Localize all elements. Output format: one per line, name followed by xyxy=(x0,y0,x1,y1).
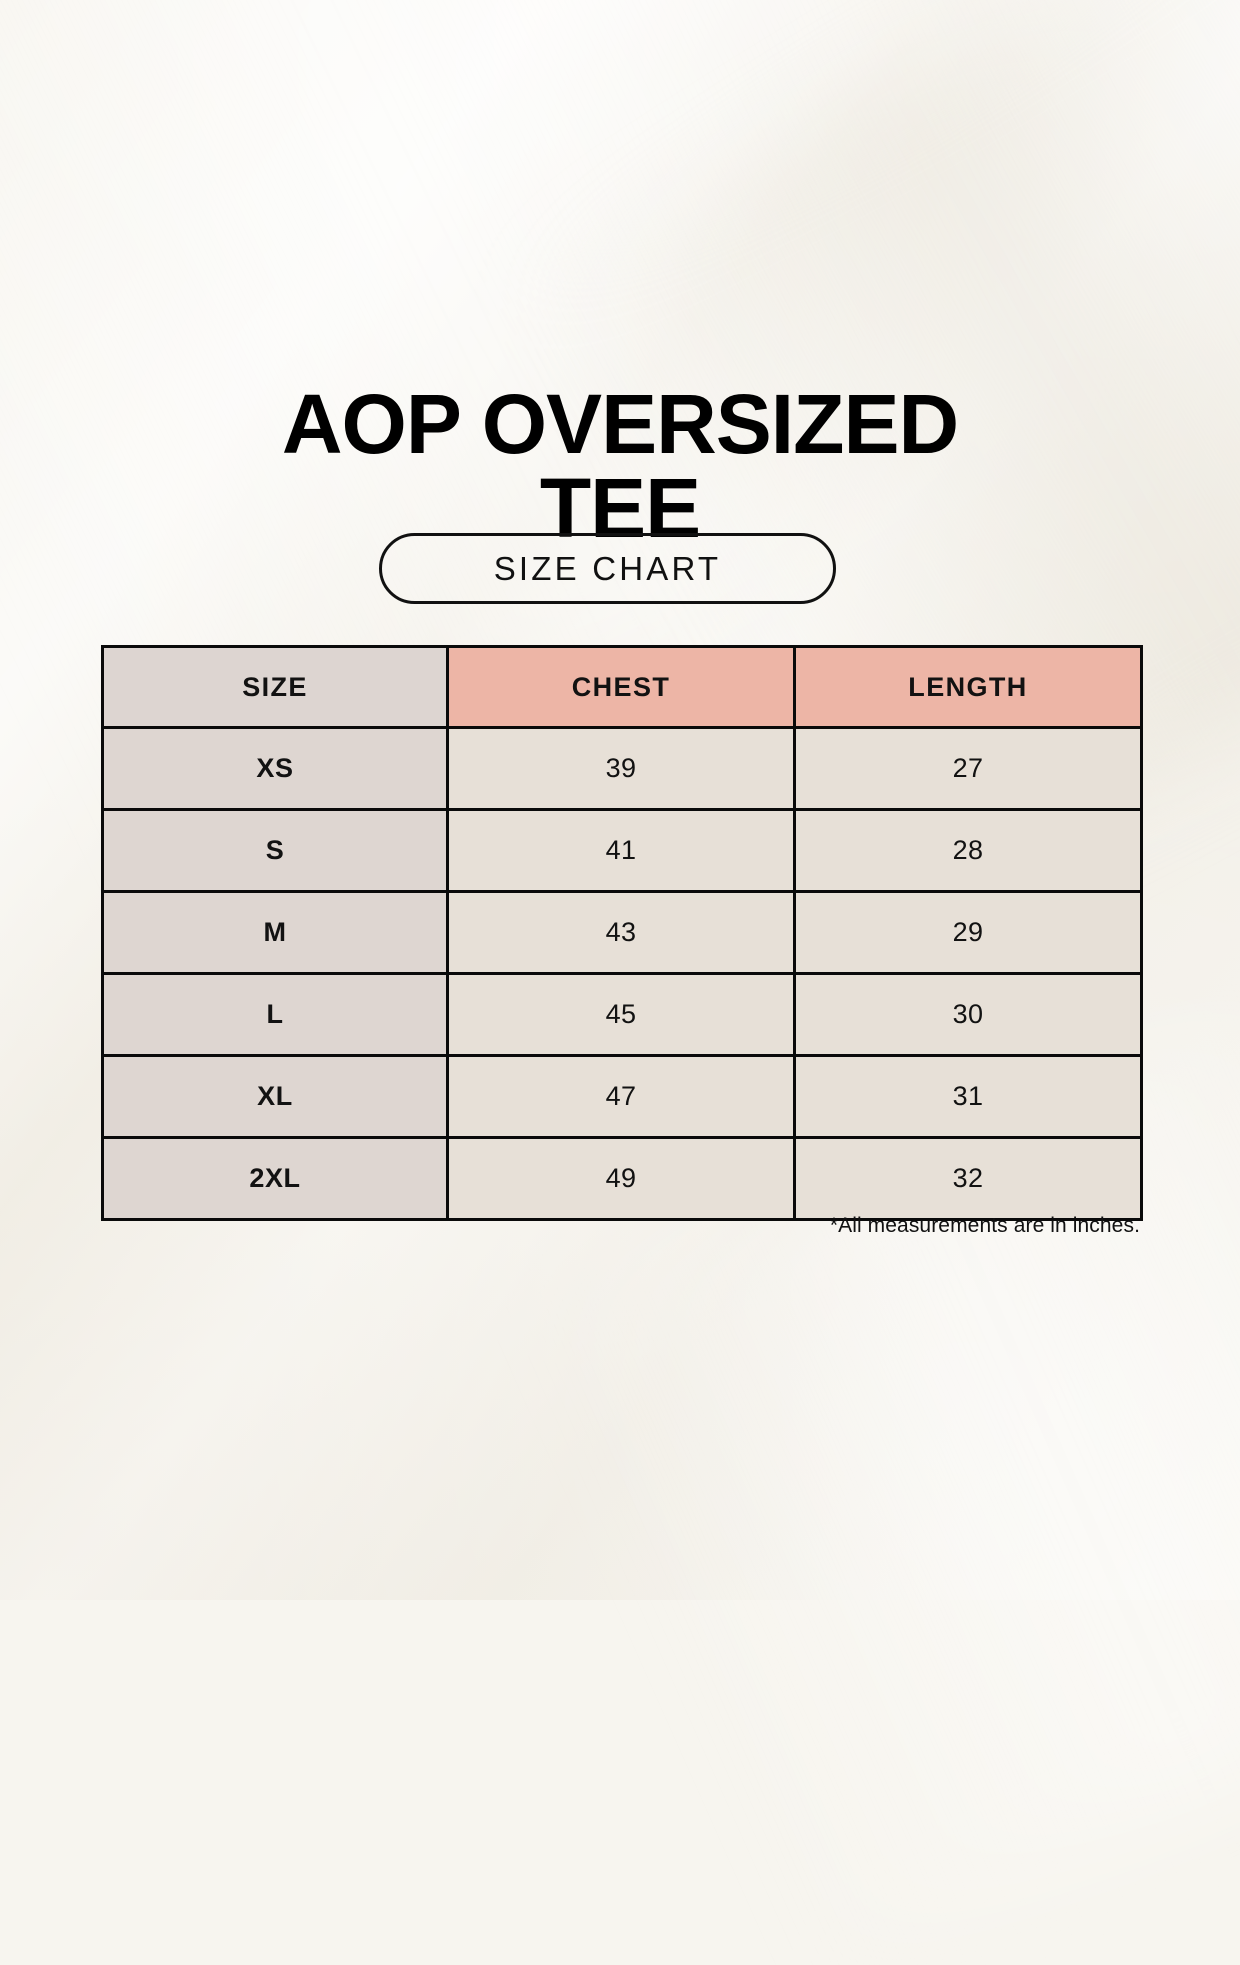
cell-length: 32 xyxy=(795,1138,1142,1220)
column-header-length: LENGTH xyxy=(795,647,1142,728)
size-chart-badge-label: SIZE CHART xyxy=(494,552,722,585)
cell-chest: 43 xyxy=(448,892,795,974)
table-row: S 41 28 xyxy=(103,810,1142,892)
cell-size: 2XL xyxy=(103,1138,448,1220)
table-header: SIZE CHEST LENGTH xyxy=(103,647,1142,728)
cell-length: 27 xyxy=(795,728,1142,810)
table-body: XS 39 27 S 41 28 M 43 29 L 45 30 xyxy=(103,728,1142,1220)
cell-chest: 47 xyxy=(448,1056,795,1138)
size-chart-table-container: SIZE CHEST LENGTH XS 39 27 S 41 28 M xyxy=(101,645,1140,1221)
page-title-line-1: AOP OVERSIZED xyxy=(282,377,958,471)
cell-chest: 45 xyxy=(448,974,795,1056)
cell-length: 30 xyxy=(795,974,1142,1056)
cell-length: 28 xyxy=(795,810,1142,892)
cell-chest: 41 xyxy=(448,810,795,892)
size-chart-table: SIZE CHEST LENGTH XS 39 27 S 41 28 M xyxy=(101,645,1143,1221)
cell-size: S xyxy=(103,810,448,892)
table-row: XS 39 27 xyxy=(103,728,1142,810)
cell-chest: 39 xyxy=(448,728,795,810)
page-title: AOP OVERSIZED TEE xyxy=(0,382,1240,550)
cell-length: 29 xyxy=(795,892,1142,974)
table-header-row: SIZE CHEST LENGTH xyxy=(103,647,1142,728)
table-row: 2XL 49 32 xyxy=(103,1138,1142,1220)
table-row: M 43 29 xyxy=(103,892,1142,974)
column-header-size: SIZE xyxy=(103,647,448,728)
column-header-chest: CHEST xyxy=(448,647,795,728)
cell-size: L xyxy=(103,974,448,1056)
measurements-footnote: *All measurements are in inches. xyxy=(101,1212,1140,1240)
table-row: XL 47 31 xyxy=(103,1056,1142,1138)
cell-chest: 49 xyxy=(448,1138,795,1220)
cell-size: M xyxy=(103,892,448,974)
table-row: L 45 30 xyxy=(103,974,1142,1056)
size-chart-badge: SIZE CHART xyxy=(379,533,836,604)
cell-size: XL xyxy=(103,1056,448,1138)
cell-length: 31 xyxy=(795,1056,1142,1138)
cell-size: XS xyxy=(103,728,448,810)
